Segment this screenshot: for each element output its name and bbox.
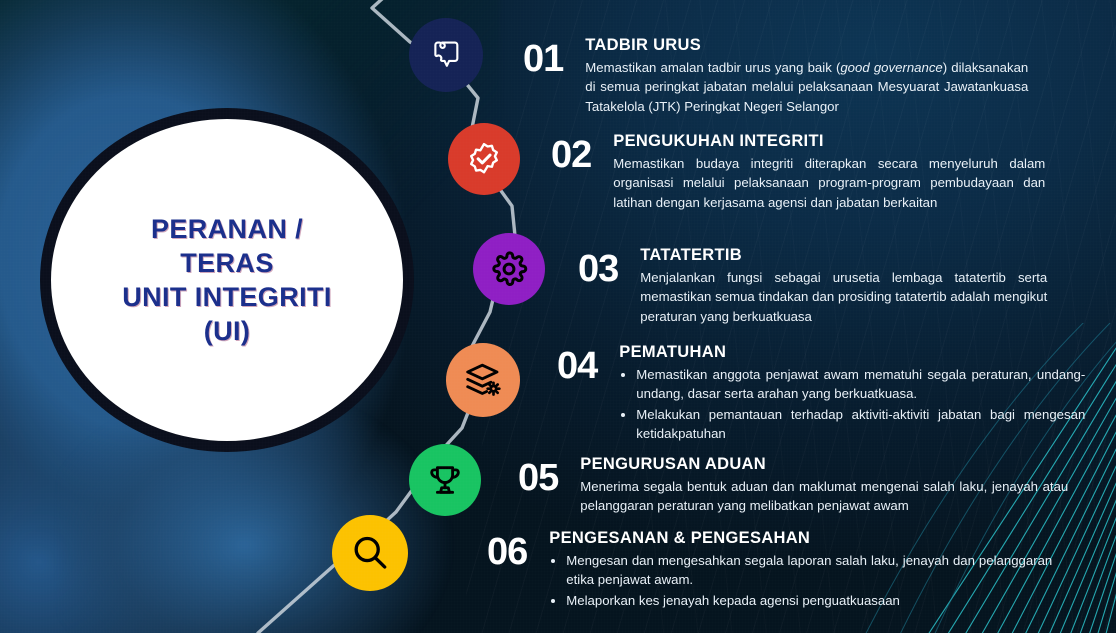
item-row-06: 06 PENGESANAN & PENGESAHAN Mengesan dan … — [487, 529, 1072, 611]
item-row-04: 04 PEMATUHAN Memastikan anggota penjawat… — [557, 343, 1104, 444]
item-row-02: 02 PENGUKUHAN INTEGRITI Memastikan buday… — [551, 132, 1069, 212]
item-title-01: TADBIR URUS — [585, 36, 1028, 55]
item-row-01: 01 TADBIR URUS Memastikan amalan tadbir … — [523, 36, 1039, 116]
item-bullets-04: Memastikan anggota penjawat awam mematuh… — [619, 365, 1085, 443]
puzzle-piece-icon — [429, 38, 463, 72]
item-number-06: 06 — [487, 529, 527, 571]
item-body-01: Memastikan amalan tadbir urus yang baik … — [585, 58, 1028, 116]
magnifier-icon — [349, 532, 391, 574]
list-item: Melakukan pemantauan terhadap aktiviti-a… — [636, 405, 1085, 444]
badge-check-icon — [465, 140, 503, 178]
item-body-05: Menerima segala bentuk aduan dan makluma… — [580, 477, 1068, 516]
item-title-06: PENGESANAN & PENGESAHAN — [549, 529, 1052, 548]
icon-bubble-05[interactable] — [409, 444, 481, 516]
item-number-01: 01 — [523, 36, 563, 78]
infographic-slide: PERANAN / TERAS UNIT INTEGRITI (UI) — [0, 0, 1116, 633]
item-body-03: Menjalankan fungsi sebagai urusetia lemb… — [640, 268, 1047, 326]
item-number-05: 05 — [518, 455, 558, 497]
item-body-02: Memastikan budaya integriti diterapkan s… — [613, 154, 1045, 212]
icon-bubble-06[interactable] — [332, 515, 408, 591]
item-title-03: TATATERTIB — [640, 246, 1047, 265]
trophy-icon — [426, 461, 464, 499]
list-item: Melaporkan kes jenayah kepada agensi pen… — [566, 591, 1052, 610]
center-circle: PERANAN / TERAS UNIT INTEGRITI (UI) — [40, 108, 414, 452]
item-title-05: PENGURUSAN ADUAN — [580, 455, 1068, 474]
item-bullets-06: Mengesan dan mengesahkan segala laporan … — [549, 551, 1052, 610]
icon-bubble-04[interactable] — [446, 343, 520, 417]
icon-bubble-01[interactable] — [409, 18, 483, 92]
layers-gear-icon — [463, 360, 503, 400]
gear-icon — [490, 250, 528, 288]
item-row-03: 03 TATATERTIB Menjalankan fungsi sebagai… — [578, 246, 1070, 326]
list-item: Mengesan dan mengesahkan segala laporan … — [566, 551, 1052, 590]
item-number-04: 04 — [557, 343, 597, 385]
center-title: PERANAN / TERAS UNIT INTEGRITI (UI) — [122, 212, 332, 348]
list-item: Memastikan anggota penjawat awam mematuh… — [636, 365, 1085, 404]
item-row-05: 05 PENGURUSAN ADUAN Menerima segala bent… — [518, 455, 1088, 516]
icon-bubble-02[interactable] — [448, 123, 520, 195]
icon-bubble-03[interactable] — [473, 233, 545, 305]
item-title-04: PEMATUHAN — [619, 343, 1085, 362]
item-number-03: 03 — [578, 246, 618, 288]
item-number-02: 02 — [551, 132, 591, 174]
item-title-02: PENGUKUHAN INTEGRITI — [613, 132, 1045, 151]
